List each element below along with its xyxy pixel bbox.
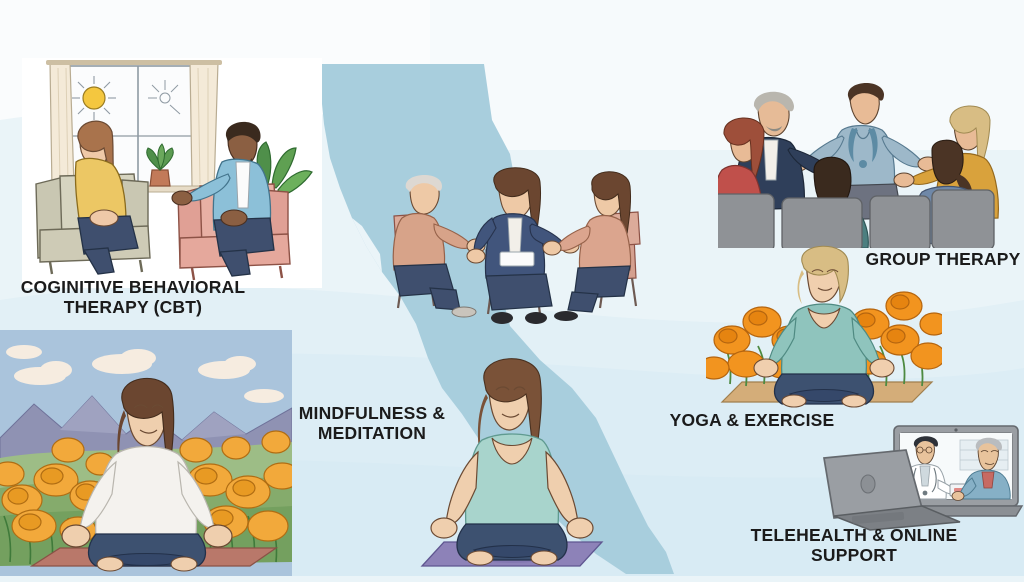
infographic-canvas: COGINITIVE BEHAVIORALTHERAPY (CBT) [0,0,1024,576]
label-cbt-line2: THERAPY (CBT) [64,297,202,317]
label-telehealth-line1: TELEHEALTH & ONLINE [751,525,958,545]
label-telehealth: TELEHEALTH & ONLINESUPPORT [734,526,974,565]
label-mindfulness-line1: MINDFULNESS & [299,403,446,423]
illustration-mindfulness [0,330,292,576]
label-mindfulness-line2: MEDITATION [318,423,426,443]
illustration-cbt [22,58,322,288]
illustration-group-therapy [718,78,1018,248]
illustration-center-three-chairs [380,166,660,336]
label-cbt-line1: COGINITIVE BEHAVIORAL [21,277,246,297]
label-telehealth-line2: SUPPORT [811,545,897,565]
illustration-center-meditator [412,352,612,582]
label-group-therapy-line1: GROUP THERAPY [866,249,1021,269]
label-yoga-line1: YOGA & EXERCISE [670,410,835,430]
label-yoga: YOGA & EXERCISE [652,411,852,431]
label-group-therapy: GROUP THERAPY [862,250,1024,270]
illustration-telehealth [810,422,1024,532]
label-mindfulness: MINDFULNESS &MEDITATION [262,404,482,443]
label-cbt: COGINITIVE BEHAVIORALTHERAPY (CBT) [8,278,258,317]
